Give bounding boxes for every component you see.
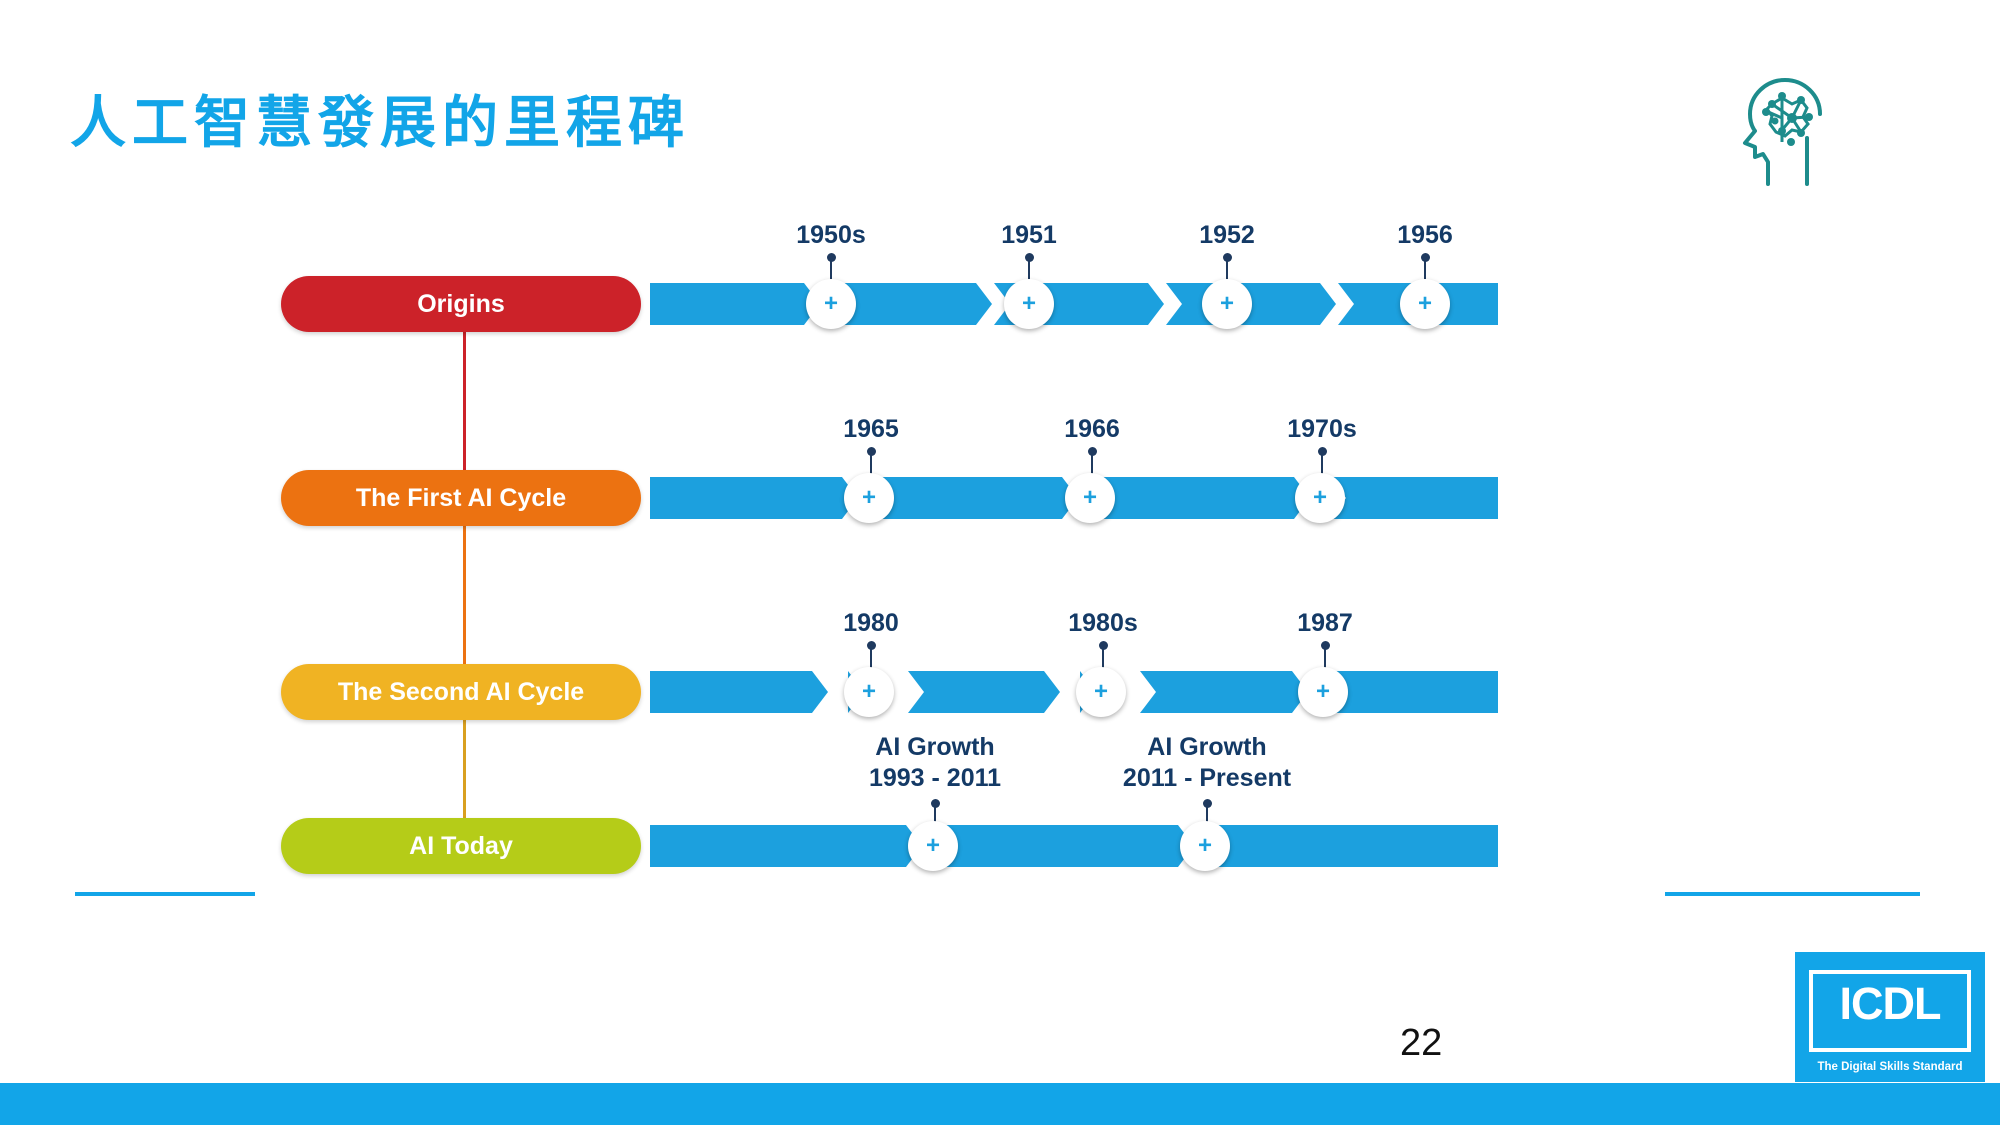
event-label: 1970s: [1287, 414, 1357, 445]
row-label-text: The First AI Cycle: [356, 484, 566, 513]
plus-icon: +: [1198, 834, 1212, 858]
event-label: 1950s: [796, 220, 866, 251]
timeline-node-add[interactable]: +: [1076, 667, 1126, 717]
timeline-segment: [1330, 671, 1498, 713]
timeline-row: AI Today + + AI Growth 1993 - 2011 AI Gr…: [0, 818, 2000, 898]
event-label: 1987: [1297, 608, 1353, 639]
logo-tagline: The Digital Skills Standard: [1795, 1061, 1985, 1073]
event-dot: [867, 447, 876, 456]
timeline-row-label-ai-today[interactable]: AI Today: [281, 818, 641, 874]
timeline-node-add[interactable]: +: [844, 667, 894, 717]
timeline-node-add[interactable]: +: [1065, 473, 1115, 523]
event-label: 1951: [1001, 220, 1057, 251]
plus-icon: +: [1083, 486, 1097, 510]
icdl-logo: ICDL The Digital Skills Standard: [1795, 952, 1985, 1082]
timeline-node-add[interactable]: +: [844, 473, 894, 523]
event-label-line1: AI Growth: [869, 732, 1001, 763]
row-label-text: Origins: [417, 290, 505, 319]
timeline-segment: [650, 671, 828, 713]
event-label-line1: AI Growth: [1123, 732, 1291, 763]
event-label: 1956: [1397, 220, 1453, 251]
timeline-segment: [1196, 825, 1498, 867]
event-dot: [1099, 641, 1108, 650]
timeline-bar-track: + + + +: [650, 283, 1610, 325]
timeline-node-add[interactable]: +: [1202, 279, 1252, 329]
footer-band: [0, 1083, 2000, 1125]
event-dot: [931, 799, 940, 808]
event-dot: [1223, 253, 1232, 262]
event-label-line2: 1993 - 2011: [869, 763, 1001, 794]
timeline-row-label-first-cycle[interactable]: The First AI Cycle: [281, 470, 641, 526]
event-dot: [1025, 253, 1034, 262]
plus-icon: +: [1022, 292, 1036, 316]
event-dot: [1203, 799, 1212, 808]
plus-icon: +: [1313, 486, 1327, 510]
event-label: 1980s: [1068, 608, 1138, 639]
plus-icon: +: [1094, 680, 1108, 704]
event-label: 1952: [1199, 220, 1255, 251]
timeline-segment: [908, 671, 1060, 713]
timeline-row: Origins + + + + 1950s 1951 1952 1956: [0, 276, 2000, 356]
timeline-node-add[interactable]: +: [1004, 279, 1054, 329]
event-label: 1965: [843, 414, 899, 445]
plus-icon: +: [1220, 292, 1234, 316]
row-label-text: The Second AI Cycle: [338, 678, 584, 707]
timeline-segment: [650, 825, 922, 867]
divider-right: [1665, 892, 1920, 896]
timeline-segment: [1330, 477, 1498, 519]
logo-border-top: [1835, 970, 1945, 974]
timeline-node-add[interactable]: +: [1295, 473, 1345, 523]
timeline-node-add[interactable]: +: [1298, 667, 1348, 717]
event-label: 1980: [843, 608, 899, 639]
timeline-row-label-origins[interactable]: Origins: [281, 276, 641, 332]
timeline-node-add[interactable]: +: [908, 821, 958, 871]
timeline-segment: [1098, 477, 1310, 519]
plus-icon: +: [824, 292, 838, 316]
ai-milestones-timeline: Origins + + + + 1950s 1951 1952 1956 T: [0, 250, 2000, 1050]
timeline-segment: [878, 477, 1078, 519]
event-dot: [867, 641, 876, 650]
plus-icon: +: [1316, 680, 1330, 704]
timeline-bar-track: + + +: [650, 477, 1610, 519]
timeline-row: The First AI Cycle + + + 1965 1966 1970s: [0, 470, 2000, 550]
timeline-segment: [650, 477, 858, 519]
event-dot: [1088, 447, 1097, 456]
timeline-bar-track: + +: [650, 825, 1610, 867]
logo-border-bottom: [1835, 1048, 1945, 1052]
event-label: AI Growth 2011 - Present: [1123, 732, 1291, 793]
event-dot: [1318, 447, 1327, 456]
row-label-text: AI Today: [409, 832, 513, 861]
event-label-line2: 2011 - Present: [1123, 763, 1291, 794]
event-dot: [1321, 641, 1330, 650]
page-number: 22: [1400, 1022, 1442, 1065]
timeline-node-add[interactable]: +: [1400, 279, 1450, 329]
event-dot: [1421, 253, 1430, 262]
plus-icon: +: [926, 834, 940, 858]
timeline-segment: [650, 283, 820, 325]
timeline-node-add[interactable]: +: [806, 279, 856, 329]
timeline-node-add[interactable]: +: [1180, 821, 1230, 871]
plus-icon: +: [862, 486, 876, 510]
timeline-row-label-second-cycle[interactable]: The Second AI Cycle: [281, 664, 641, 720]
event-dot: [827, 253, 836, 262]
plus-icon: +: [1418, 292, 1432, 316]
page-title: 人工智慧發展的里程碑: [70, 78, 690, 159]
timeline-segment: [1140, 671, 1308, 713]
event-label: AI Growth 1993 - 2011: [869, 732, 1001, 793]
row-connector: [463, 526, 466, 666]
row-connector: [463, 332, 466, 472]
logo-wordmark: ICDL: [1795, 978, 1985, 1030]
timeline-segment: [924, 825, 1194, 867]
plus-icon: +: [862, 680, 876, 704]
timeline-bar-track: + + +: [650, 671, 1610, 713]
ai-brain-head-icon: [1728, 62, 1848, 190]
divider-left: [75, 892, 255, 896]
event-label: 1966: [1064, 414, 1120, 445]
